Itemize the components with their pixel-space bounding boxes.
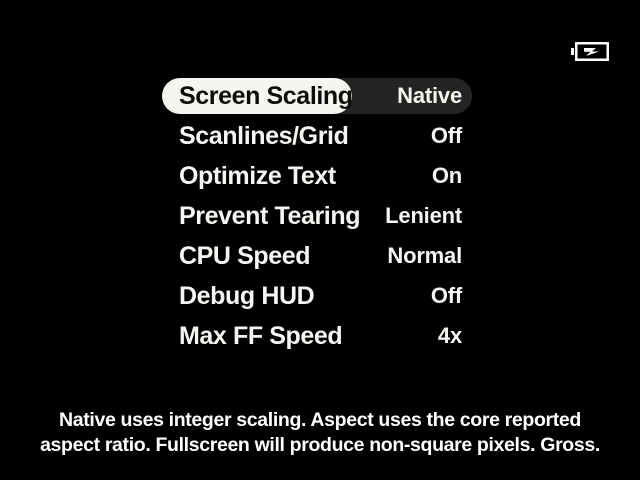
menu-value[interactable]: On	[432, 158, 462, 194]
menu-value[interactable]: Lenient	[385, 198, 462, 234]
menu-value[interactable]: Off	[431, 118, 462, 154]
menu-value[interactable]: 4x	[438, 318, 462, 354]
battery-charging-icon	[571, 42, 609, 61]
menu-row-debug-hud[interactable]: Debug HUD Off	[0, 278, 640, 318]
status-bar	[0, 0, 640, 72]
menu-row-optimize-text[interactable]: Optimize Text On	[0, 158, 640, 198]
row-inner: Prevent Tearing Lenient	[162, 198, 472, 234]
row-inner: Scanlines/Grid Off	[162, 118, 472, 154]
menu-label: CPU Speed	[179, 238, 310, 274]
row-inner: Screen Scaling Native	[162, 78, 472, 114]
menu-label: Prevent Tearing	[179, 198, 360, 234]
footer-description: Native uses integer scaling. Aspect uses…	[0, 408, 640, 458]
menu-label: Max FF Speed	[179, 318, 342, 354]
row-inner: Debug HUD Off	[162, 278, 472, 314]
menu-row-screen-scaling[interactable]: Screen Scaling Native	[0, 78, 640, 118]
menu-row-max-ff-speed[interactable]: Max FF Speed 4x	[0, 318, 640, 358]
settings-screen: Screen Scaling Native Scanlines/Grid Off…	[0, 0, 640, 480]
menu-label: Scanlines/Grid	[179, 118, 348, 154]
menu-value[interactable]: Native	[397, 78, 462, 114]
menu-label: Debug HUD	[179, 278, 314, 314]
row-inner: Optimize Text On	[162, 158, 472, 194]
row-inner: Max FF Speed 4x	[162, 318, 472, 354]
menu-row-prevent-tearing[interactable]: Prevent Tearing Lenient	[0, 198, 640, 238]
footer-line-1: Native uses integer scaling. Aspect uses…	[0, 408, 640, 433]
menu-row-scanlines-grid[interactable]: Scanlines/Grid Off	[0, 118, 640, 158]
menu-value[interactable]: Off	[431, 278, 462, 314]
footer-line-2: aspect ratio. Fullscreen will produce no…	[0, 433, 640, 458]
settings-menu-list: Screen Scaling Native Scanlines/Grid Off…	[0, 78, 640, 358]
menu-label: Optimize Text	[179, 158, 336, 194]
menu-value[interactable]: Normal	[387, 238, 462, 274]
menu-row-cpu-speed[interactable]: CPU Speed Normal	[0, 238, 640, 278]
menu-label: Screen Scaling	[179, 78, 353, 114]
row-inner: CPU Speed Normal	[162, 238, 472, 274]
